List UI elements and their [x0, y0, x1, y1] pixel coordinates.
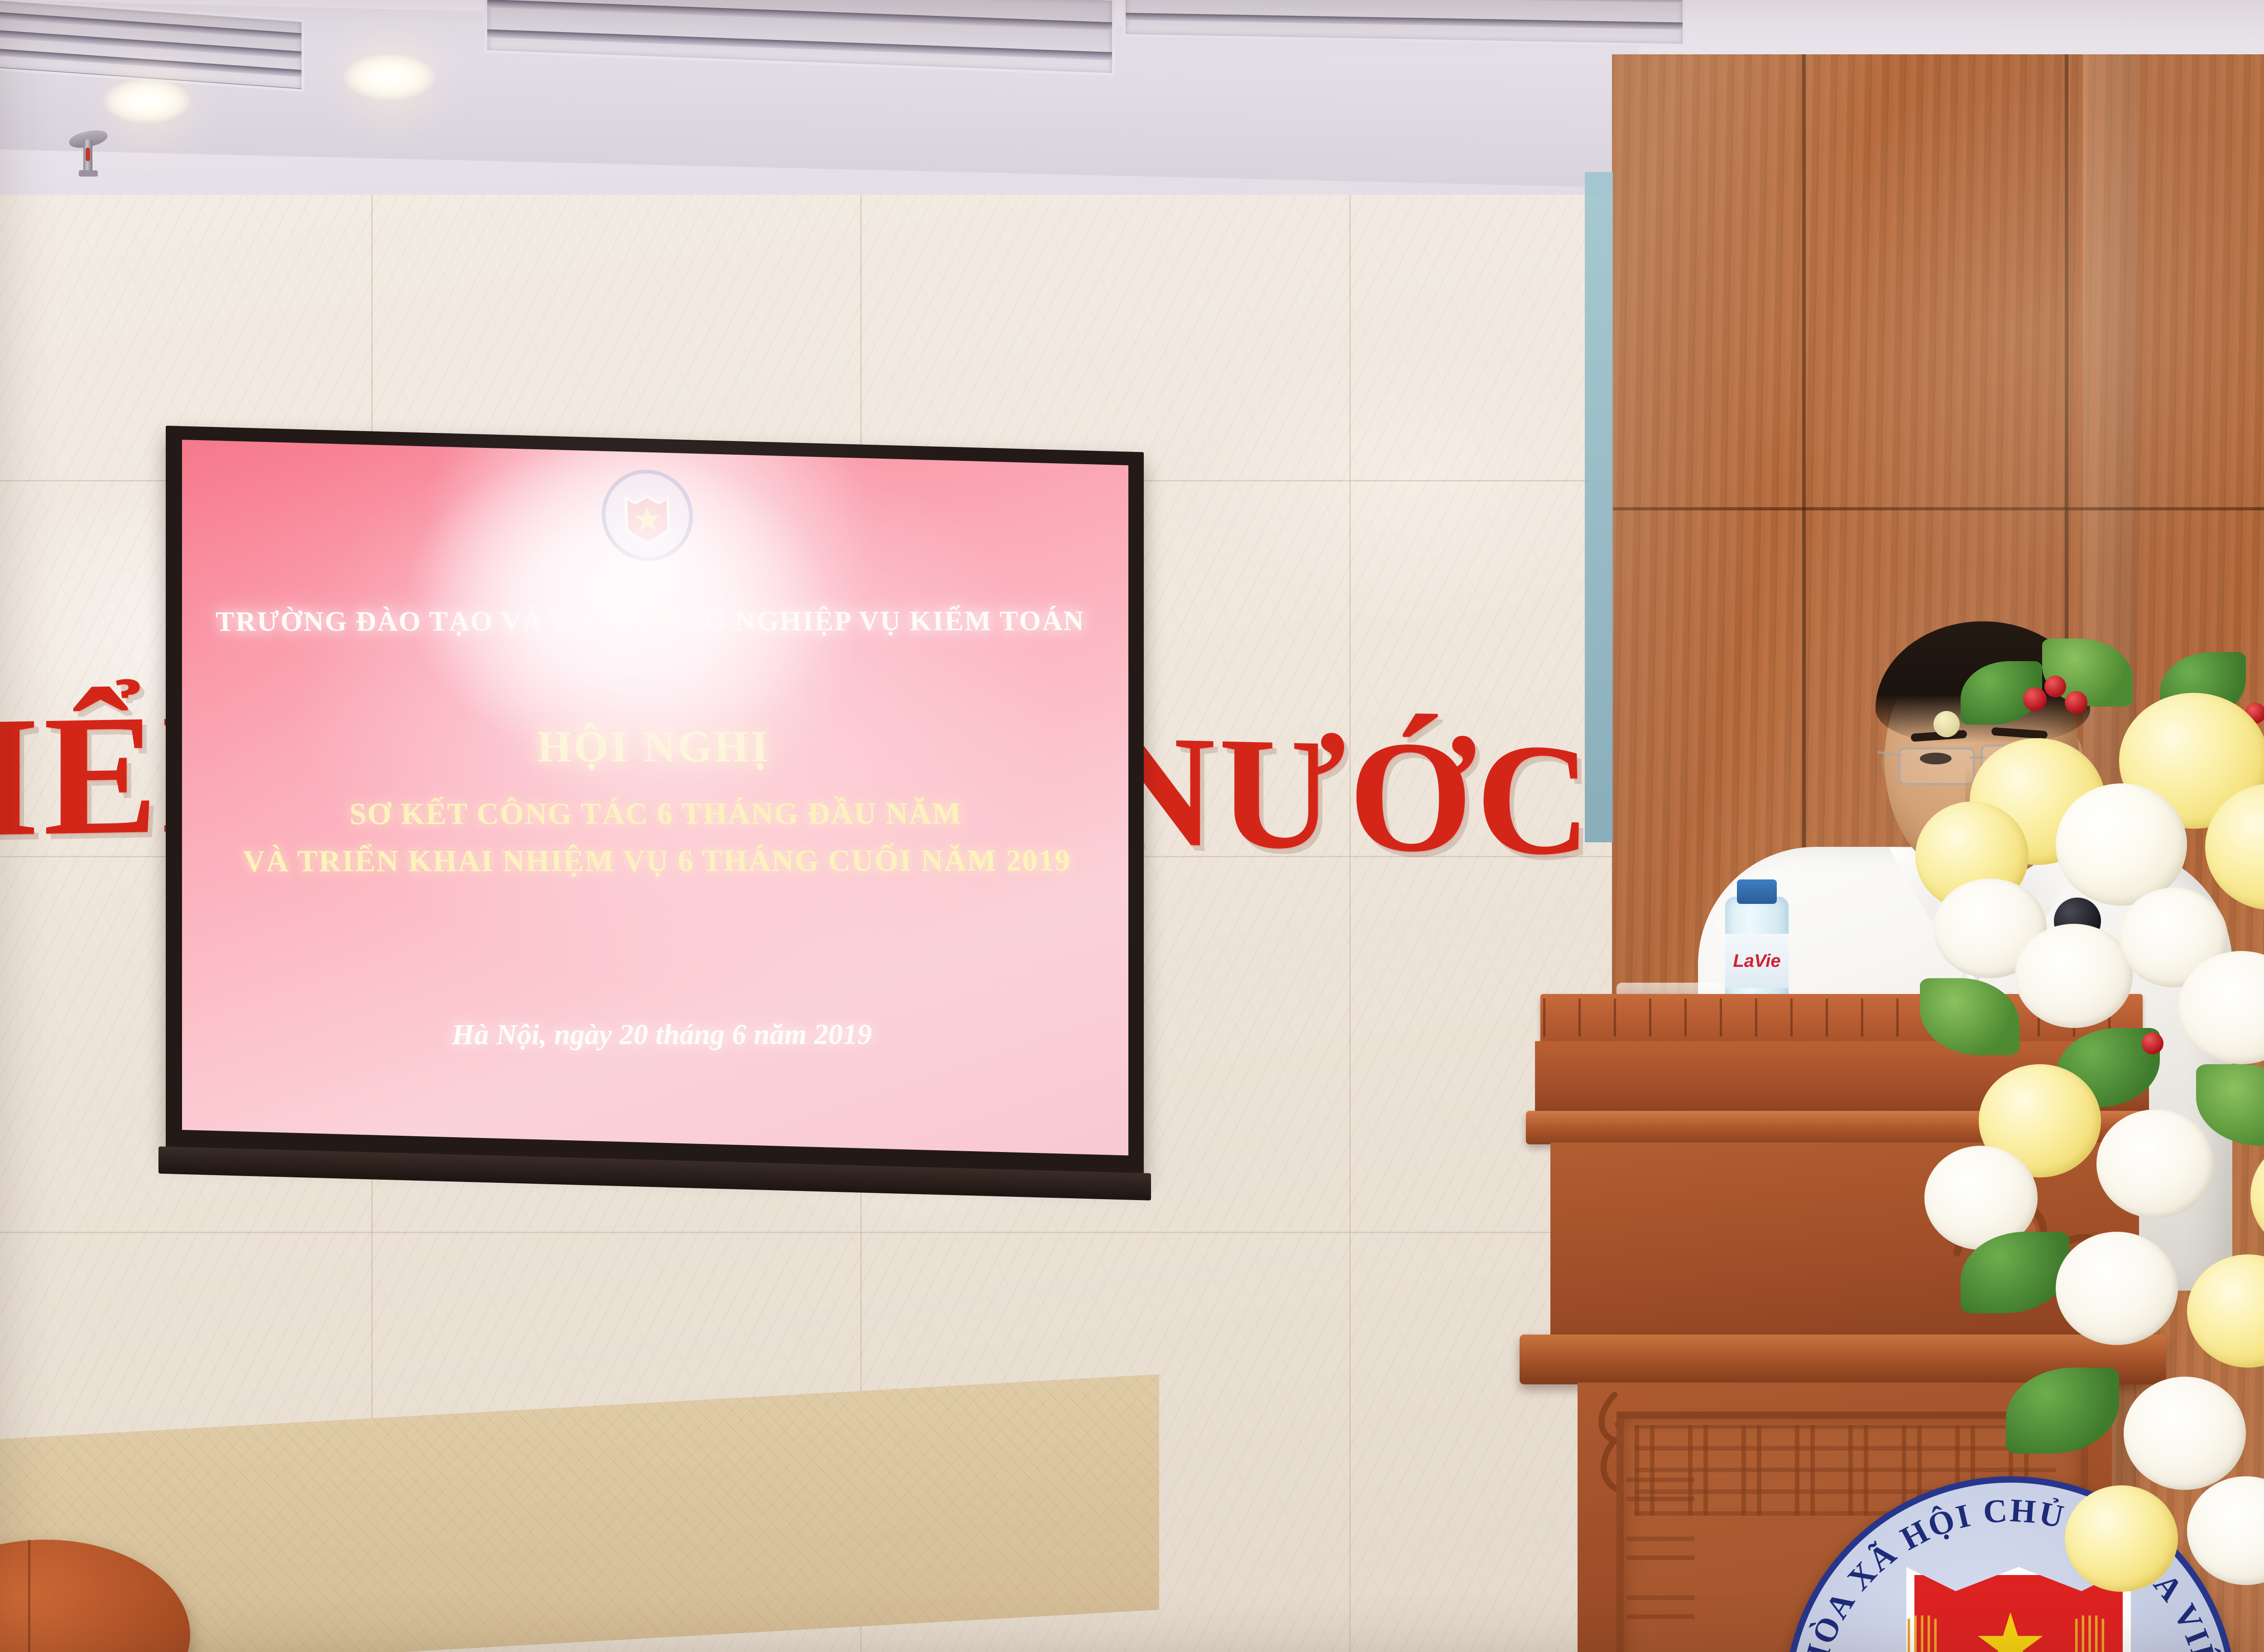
water-bottle-brand: LaVie	[1725, 934, 1789, 988]
wood-panel-seam	[1612, 507, 2264, 510]
water-bottle-label: LaVie	[1725, 934, 1789, 988]
slide-heading: HỘI NGHỊ	[182, 721, 1127, 773]
projection-screen: TRƯỜNG ĐÀO TẠO VÀ BỒI DƯỠNG NGHIỆP VỤ KI…	[166, 426, 1144, 1177]
screen-surface: TRƯỜNG ĐÀO TẠO VÀ BỒI DƯỠNG NGHIỆP VỤ KI…	[182, 440, 1128, 1156]
wall-sign-right: NƯỚC	[1100, 710, 1594, 881]
slide-date-line: Hà Nội, ngày 20 tháng 6 năm 2019	[188, 1018, 1128, 1052]
flower-arrangement	[1906, 634, 2264, 1652]
presentation-slide: TRƯỜNG ĐÀO TẠO VÀ BỒI DƯỠNG NGHIỆP VỤ KI…	[182, 452, 1128, 1143]
carved-fret-pattern	[1626, 1447, 1694, 1652]
slide-subtitle-line-2: VÀ TRIỂN KHAI NHIỆM VỤ 6 THÁNG CUỐI NĂM …	[183, 842, 1128, 879]
ceiling-downlight-icon	[104, 79, 190, 123]
water-bottle-cap	[1737, 879, 1777, 904]
state-audit-emblem-icon	[599, 468, 696, 563]
slide-organization-line: TRƯỜNG ĐÀO TẠO VÀ BỒI DƯỠNG NGHIỆP VỤ KI…	[182, 605, 1124, 638]
ceiling-downlight-icon	[344, 54, 435, 100]
slide-subtitle-line-1: SƠ KẾT CÔNG TÁC 6 THÁNG ĐẦU NĂM	[182, 795, 1128, 832]
conference-room-photo: IỂM NƯỚC TRƯỜNG ĐÀO TẠO VÀ BỒI DƯỠNG NGH…	[0, 0, 2264, 1652]
